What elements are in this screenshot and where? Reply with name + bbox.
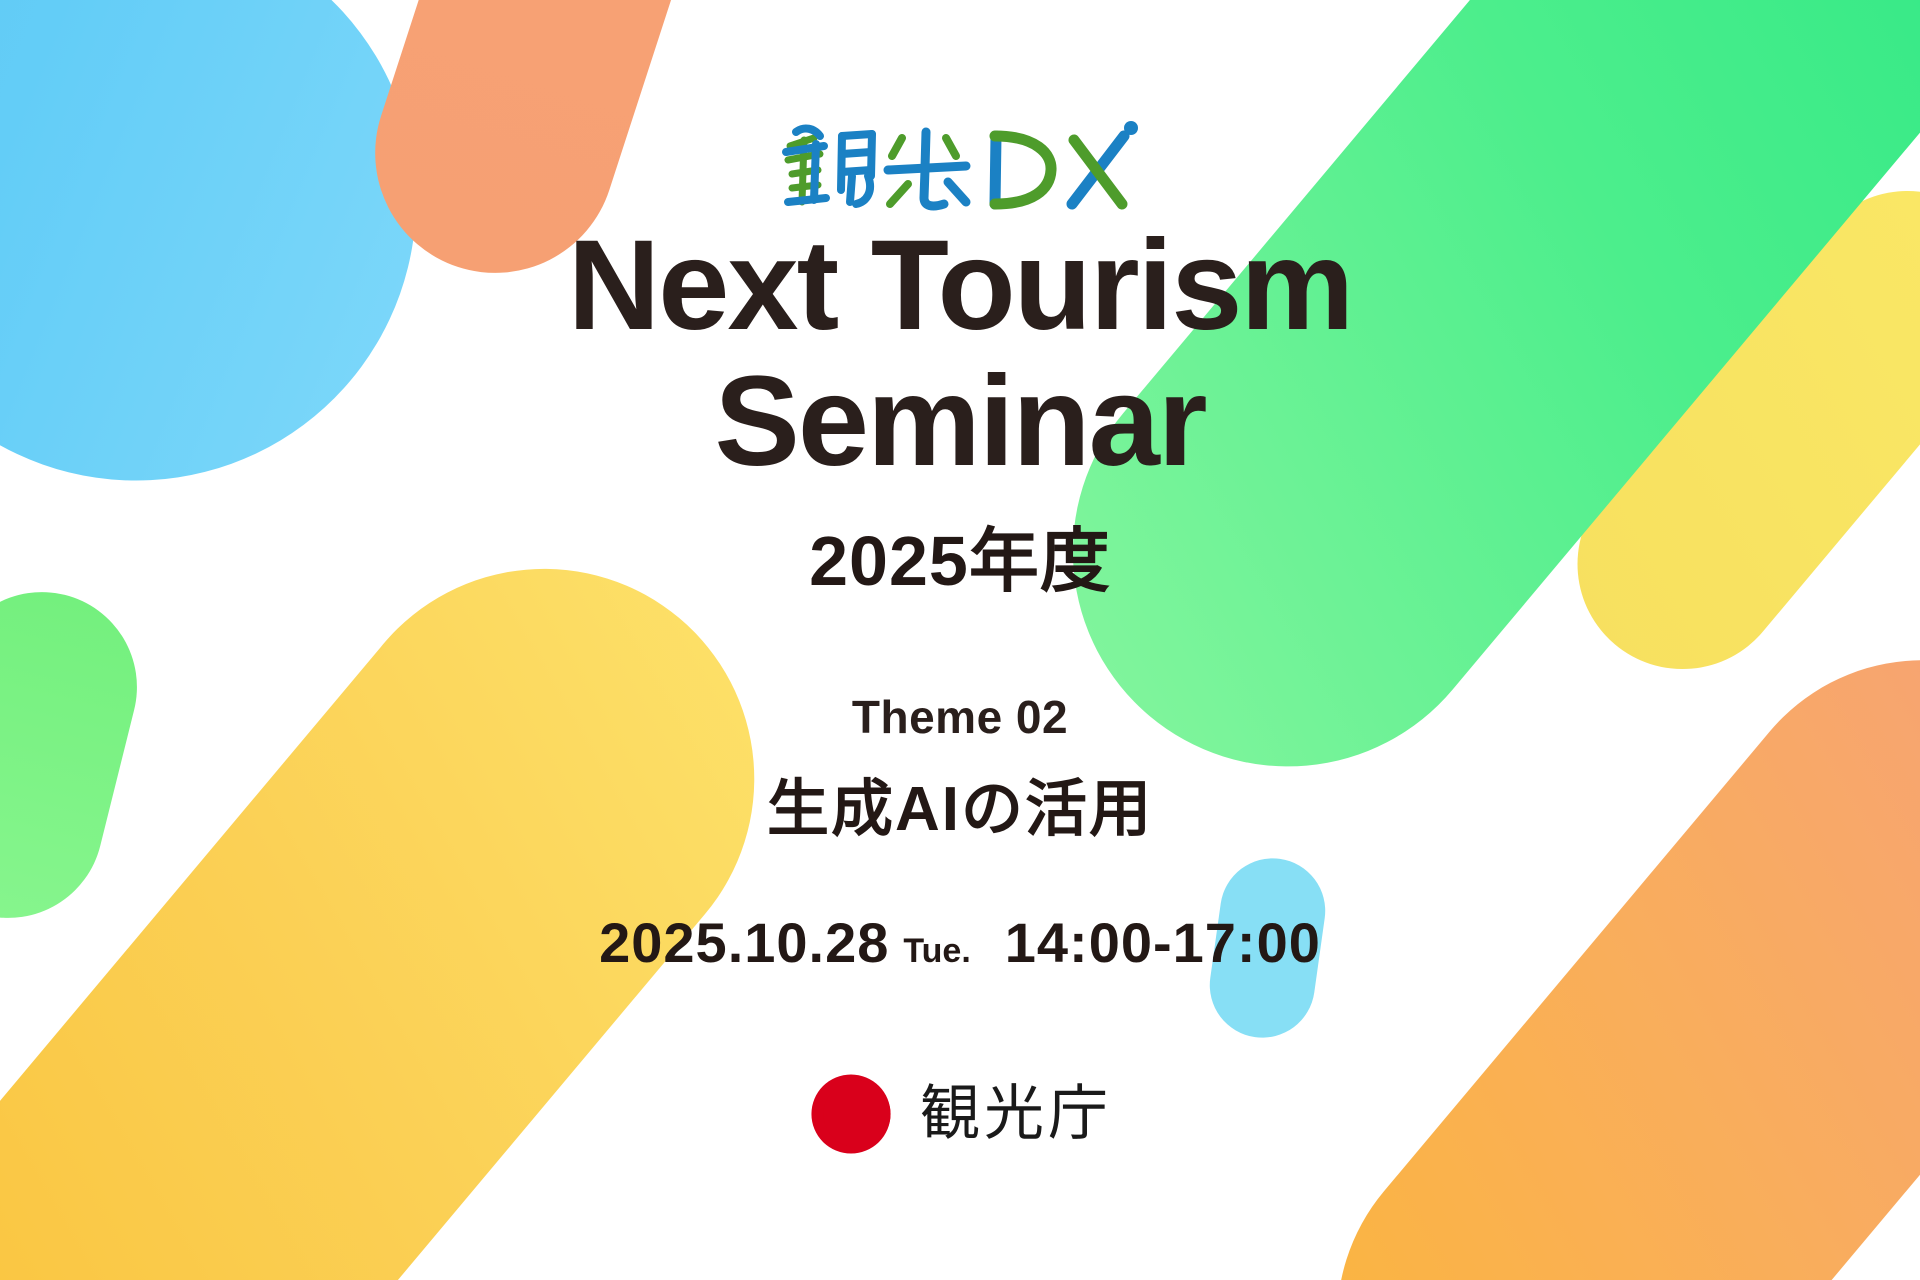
poster-content: Next Tourism Seminar 2025年度 Theme 02 生成A… [0, 0, 1920, 1280]
kanko-dx-logo [780, 116, 1140, 212]
japan-tourism-agency-mark-icon [808, 1071, 894, 1157]
event-weekday: Tue. [903, 932, 970, 971]
event-date: 2025.10.28 [599, 910, 889, 975]
agency-logo: 観光庁 [808, 1071, 1112, 1157]
theme-title: 生成AIの活用 [767, 758, 1153, 848]
event-time: 14:00-17:00 [1005, 910, 1321, 975]
agency-name: 観光庁 [920, 1084, 1112, 1144]
page-title: Next Tourism Seminar [568, 218, 1352, 489]
schedule-line: 2025.10.28 Tue. 14:00-17:00 [599, 910, 1321, 975]
title-line-2: Seminar [568, 354, 1352, 490]
fiscal-year-label: 2025年度 [809, 505, 1111, 606]
title-line-1: Next Tourism [568, 214, 1352, 357]
theme-number-label: Theme 02 [852, 690, 1068, 744]
seminar-poster: Next Tourism Seminar 2025年度 Theme 02 生成A… [0, 0, 1920, 1280]
